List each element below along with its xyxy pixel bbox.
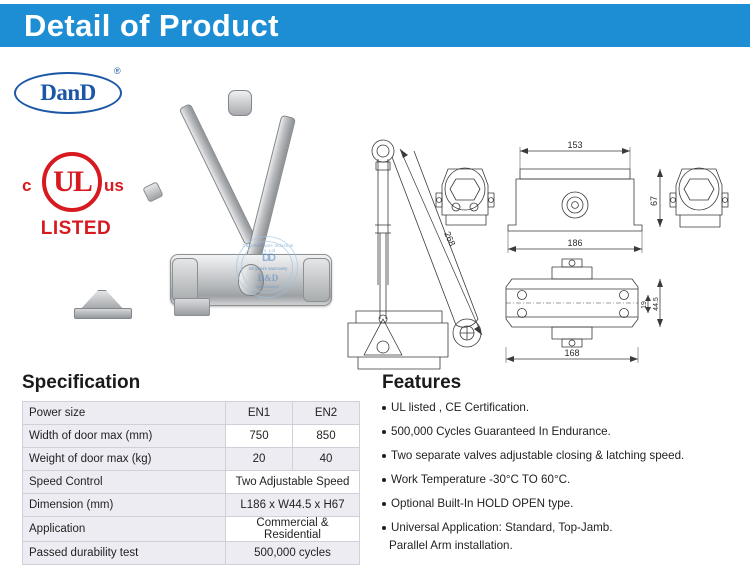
list-item: Work Temperature -30°C TO 60°C. (382, 473, 732, 487)
dimension-label-153: 153 (567, 140, 582, 150)
bullet-icon (382, 454, 386, 458)
spec-row-value-en2: 40 (293, 448, 360, 471)
list-item: Optional Built-In HOLD OPEN type. (382, 497, 732, 511)
spec-row-value-en2: EN2 (293, 402, 360, 425)
page-title: Detail of Product (24, 8, 279, 44)
spec-row-value: Two Adjustable Speed (226, 471, 360, 494)
feature-text: UL listed , CE Certification. (391, 401, 529, 414)
spec-row-value-en1: EN1 (226, 402, 293, 425)
spec-row-value: Commercial & Residential (226, 517, 360, 542)
bullet-icon (382, 430, 386, 434)
table-row: Passed durability test500,000 cycles (23, 542, 360, 565)
list-item: UL listed , CE Certification. (382, 401, 732, 415)
bullet-icon (382, 502, 386, 506)
table-row: Weight of door max (kg)2040 (23, 448, 360, 471)
spec-row-label: Power size (23, 402, 226, 425)
dimension-label-186: 186 (567, 238, 582, 248)
closer-mounting-bracket (174, 298, 210, 316)
closer-arm-elbow (228, 90, 252, 116)
closer-body-end-cap-left (172, 258, 198, 302)
closer-arm-sleeve (142, 181, 163, 202)
spec-row-label: Weight of door max (kg) (23, 448, 226, 471)
spec-row-label: Speed Control (23, 471, 226, 494)
spec-row-value: 500,000 cycles (226, 542, 360, 565)
list-item: Two separate valves adjustable closing &… (382, 449, 732, 463)
warranty-seal-subtitle: HARDWARE (237, 284, 299, 289)
product-image-area: DanD ® c UL us LISTED D&D (0, 52, 750, 357)
specification-title: Specification (22, 372, 362, 394)
feature-text: Optional Built-In HOLD OPEN type. (391, 497, 573, 510)
dimension-label-44-5: 44.5 (653, 297, 660, 311)
product-detail-page: Detail of Product DanD ® c UL us LISTED (0, 0, 750, 578)
closer-body-end-cap-right (303, 258, 330, 302)
drawing-plan-view (506, 259, 663, 363)
table-row: ApplicationCommercial & Residential (23, 517, 360, 542)
spec-row-label: Width of door max (mm) (23, 425, 226, 448)
feature-text: Two separate valves adjustable closing &… (391, 449, 684, 462)
spec-row-value: L186 x W44.5 x H67 (226, 494, 360, 517)
drawing-end-view-left (436, 168, 494, 225)
specification-section: Specification Power sizeEN1EN2Width of d… (22, 372, 362, 565)
dimension-label-19: 19 (641, 301, 648, 309)
spec-row-label: Application (23, 517, 226, 542)
table-row: Speed ControlTwo Adjustable Speed (23, 471, 360, 494)
table-row: Dimension (mm)L186 x W44.5 x H67 (23, 494, 360, 517)
features-title: Features (382, 372, 732, 394)
table-row: Width of door max (mm)750850 (23, 425, 360, 448)
dimension-label-268: 268 (442, 230, 457, 248)
feature-text: Work Temperature -30°C TO 60°C. (391, 473, 570, 486)
list-item: Universal Application: Standard, Top-Jam… (382, 521, 732, 535)
bullet-icon (382, 478, 386, 482)
warranty-seal-brand: D&D (237, 273, 299, 283)
closer-forearm (179, 103, 257, 245)
features-continuation: Parallel Arm installation. (389, 539, 732, 552)
ul-mark-c-label: c (22, 176, 31, 196)
spec-row-value-en2: 850 (293, 425, 360, 448)
technical-drawings: 153 186 67 168 19 44.5 268 (330, 107, 750, 407)
spec-row-value-en1: 750 (226, 425, 293, 448)
feature-text: 500,000 Cycles Guaranteed In Endurance. (391, 425, 611, 438)
dimension-label-67: 67 (649, 196, 659, 206)
drawing-side-elevation (348, 140, 482, 369)
spec-row-label: Passed durability test (23, 542, 226, 565)
table-row: Power sizeEN1EN2 (23, 402, 360, 425)
bullet-icon (382, 406, 386, 410)
feature-text: Universal Application: Standard, Top-Jam… (391, 521, 612, 534)
spec-row-value-en1: 20 (226, 448, 293, 471)
dimension-label-168: 168 (564, 348, 579, 358)
specification-table-body: Power sizeEN1EN2Width of door max (mm)75… (23, 402, 360, 565)
list-item: 500,000 Cycles Guaranteed In Endurance. (382, 425, 732, 439)
drawing-end-view-right (657, 168, 728, 227)
features-list: UL listed , CE Certification.500,000 Cyc… (382, 401, 732, 535)
warranty-seal-years: 10 years warranty (237, 266, 299, 271)
warranty-seal-logo: DD (237, 252, 299, 264)
spec-row-label: Dimension (mm) (23, 494, 226, 517)
specification-table: Power sizeEN1EN2Width of door max (mm)75… (22, 401, 360, 565)
door-closer-photo (60, 62, 320, 352)
bullet-icon (382, 526, 386, 530)
warranty-seal-watermark: D&D Hardware Industrial Co.,Ltd DD 10 ye… (236, 236, 298, 298)
closer-arm-shoe-plate (74, 308, 132, 319)
features-section: Features UL listed , CE Certification.50… (382, 372, 732, 552)
